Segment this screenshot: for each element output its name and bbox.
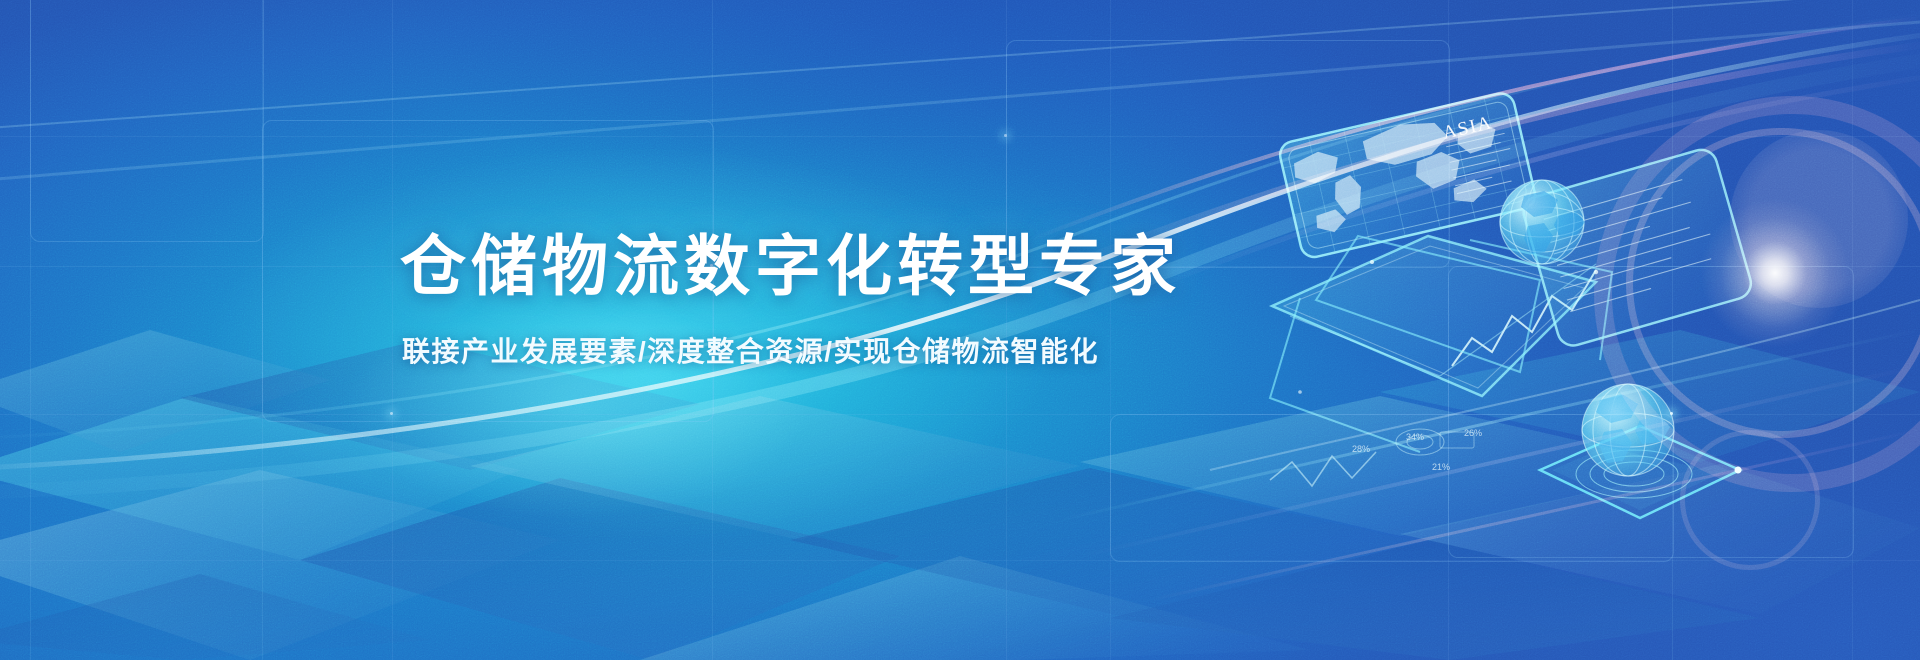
svg-text:34%: 34% [1406,432,1424,442]
flare-core [1700,198,1850,348]
chart-panel: 34% 26% 28% 21% [1270,0,1596,486]
svg-text:21%: 21% [1432,462,1450,472]
chart-value-labels: 34% 26% 28% 21% [1352,428,1482,472]
donut-motif [1396,429,1444,455]
globe-platform [1540,384,1742,518]
hero-banner: ASIA [0,0,1920,660]
panel-connectors [1270,236,1612,452]
globe-upper [1500,180,1585,264]
page-subtitle: 联接产业发展要素/深度整合资源/实现仓储物流智能化 [402,330,1181,370]
svg-text:26%: 26% [1464,428,1482,438]
asia-label: ASIA [1441,109,1518,193]
svg-text:ASIA: ASIA [1441,112,1495,144]
text-panel [1520,146,1755,349]
banner-copy: 仓储物流数字化转型专家 联接产业发展要素/深度整合资源/实现仓储物流智能化 [400,232,1181,370]
page-title: 仓储物流数字化转型专家 [400,232,1181,302]
map-panel: ASIA [1277,91,1537,260]
svg-text:28%: 28% [1352,444,1370,454]
hologram-sparks [1298,260,1598,394]
